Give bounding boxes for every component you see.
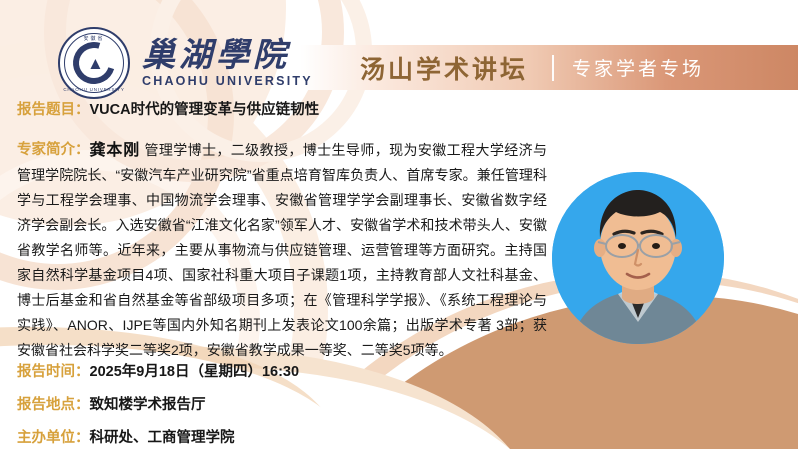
expert-name: 龚本刚 [90, 142, 141, 159]
topic-row: 报告题目：VUCA时代的管理变革与供应链韧性 [17, 98, 319, 119]
expert-bio-block: 专家简介： 龚本刚 管理学博士，二级教授，博士生导师，现为安徽工程大学经济与管理… [17, 138, 547, 363]
topic-label: 报告题目： [17, 102, 90, 118]
time-value: 2025年9月18日（星期四）16:30 [90, 364, 300, 380]
organizer-label: 主办单位： [17, 430, 90, 446]
expert-bio-text: 龚本刚 管理学博士，二级教授，博士生导师，现为安徽工程大学经济与管理学院院长、“… [17, 138, 547, 363]
expert-bio-paragraph: 管理学博士，二级教授，博士生导师，现为安徽工程大学经济与管理学院院长、“安徽汽车… [17, 142, 547, 358]
topic-value: VUCA时代的管理变革与供应链韧性 [90, 102, 320, 118]
poster-content: 报告题目：VUCA时代的管理变革与供应链韧性 专家简介： 龚本刚 管理学博士，二… [0, 0, 798, 449]
expert-label: 专家简介： [17, 138, 90, 163]
time-label: 报告时间： [17, 364, 90, 380]
poster-canvas: 汤山学术讲坛 专家学者专场 安徽省 ▲ CHAOHU UNIVERSITY 巢湖… [0, 0, 798, 449]
organizer-value: 科研处、工商管理学院 [90, 430, 235, 446]
organizer-row: 主办单位：科研处、工商管理学院 [17, 426, 235, 447]
place-label: 报告地点： [17, 397, 90, 413]
time-row: 报告时间：2025年9月18日（星期四）16:30 [17, 360, 299, 381]
place-row: 报告地点：致知楼学术报告厅 [17, 393, 206, 414]
place-value: 致知楼学术报告厅 [90, 397, 206, 413]
